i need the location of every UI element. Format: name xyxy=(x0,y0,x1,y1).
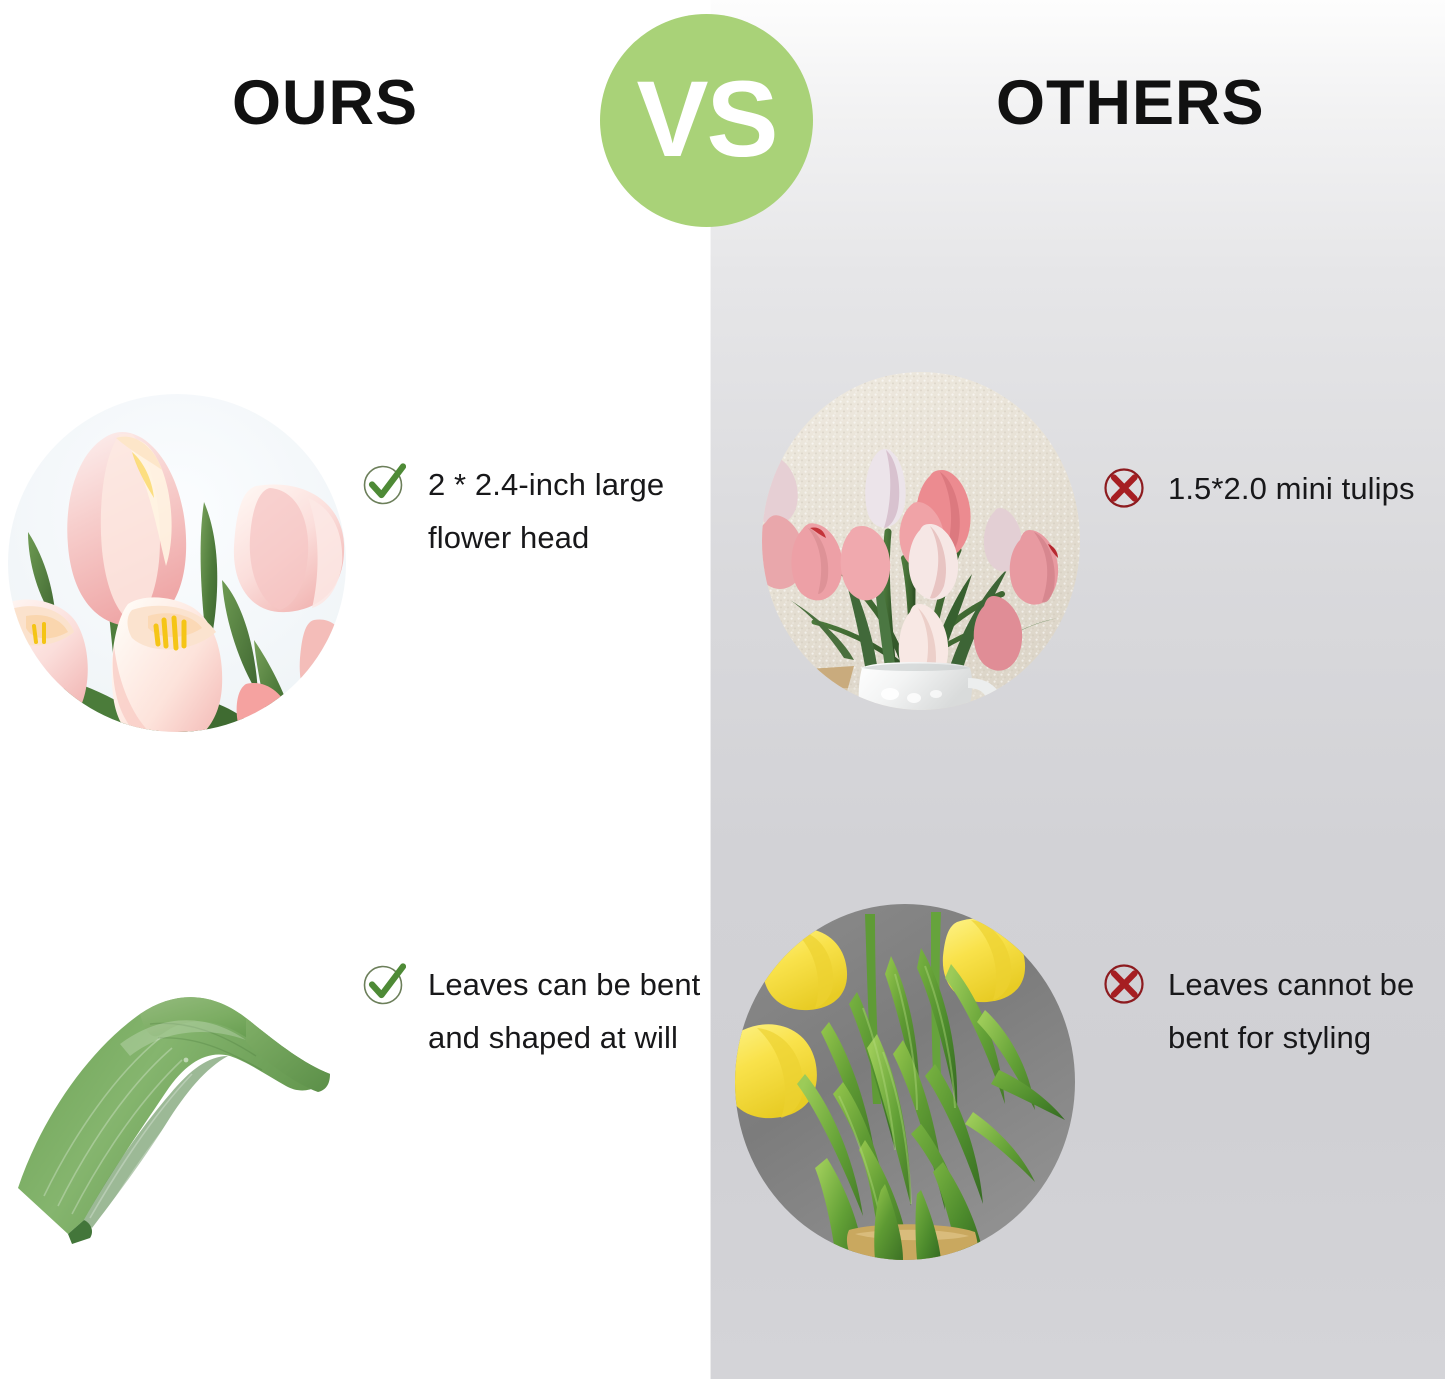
others-heading: OTHERS xyxy=(996,72,1265,135)
ours-heading: OURS xyxy=(232,72,418,135)
cross-circle-icon xyxy=(1102,962,1146,1006)
feature-others-stiff-leaves-text: Leaves cannot be bent for styling xyxy=(1168,958,1432,1065)
feature-ours-flower-head: 2 * 2.4-inch large flower head xyxy=(362,458,692,565)
pink-tulip-closeup-photo xyxy=(8,394,346,732)
feature-ours-bendable-leaves-text: Leaves can be bent and shaped at will xyxy=(428,958,702,1065)
cross-circle-icon xyxy=(1102,466,1146,510)
pink-mini-tulips-in-white-pitcher-photo xyxy=(762,372,1080,710)
yellow-tulips-stiff-leaves-photo xyxy=(735,904,1075,1260)
vs-badge-label: VS xyxy=(636,65,776,173)
vs-badge: VS xyxy=(600,14,813,227)
feature-ours-flower-head-text: 2 * 2.4-inch large flower head xyxy=(428,458,692,565)
comparison-infographic: OURS OTHERS VS xyxy=(0,0,1445,1379)
check-circle-icon xyxy=(362,462,406,506)
feature-others-mini-tulips-text: 1.5*2.0 mini tulips xyxy=(1168,462,1415,515)
feature-others-stiff-leaves: Leaves cannot be bent for styling xyxy=(1102,958,1432,1065)
feature-others-mini-tulips: 1.5*2.0 mini tulips xyxy=(1102,462,1422,515)
feature-ours-bendable-leaves: Leaves can be bent and shaped at will xyxy=(362,958,702,1065)
bent-green-leaf-photo xyxy=(0,952,340,1282)
check-circle-icon xyxy=(362,962,406,1006)
